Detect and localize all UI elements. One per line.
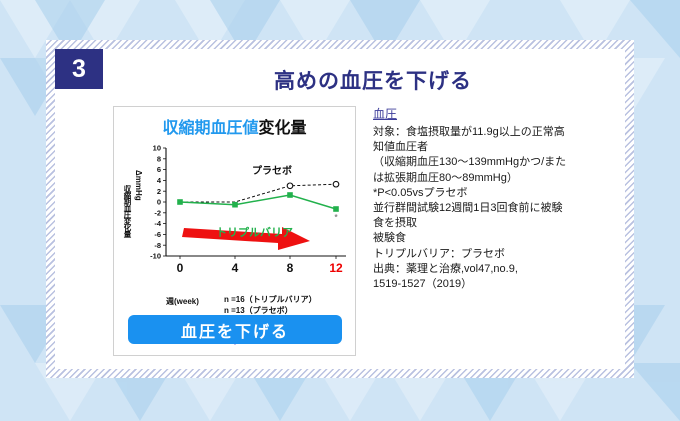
svg-text:-2: -2 [154, 208, 161, 217]
info-line: （収縮期血圧130〜139mmHgかつ/また [373, 155, 621, 170]
info-line: 食を摂取 [373, 216, 621, 231]
x-axis-tick-labels: 0 4 8 12 [177, 261, 343, 275]
svg-text:10: 10 [153, 144, 161, 153]
chart-panel: 収縮期血圧値変化量 収縮期血圧変化量 ΔmmHg [113, 106, 356, 356]
series-label-placebo: プラセボ [252, 162, 292, 177]
series-line-placebo [180, 184, 336, 202]
info-line: トリプルバリア：プラセボ [373, 247, 621, 262]
sample-size-triple: n =16（トリプルバリア） [224, 294, 317, 305]
svg-text:0: 0 [177, 261, 184, 275]
slide-number-text: 3 [72, 55, 86, 84]
chart-title-black: 変化量 [259, 120, 307, 137]
info-line: 対象：食塩摂取量が11.9g以上の正常高 [373, 125, 621, 140]
svg-text:4: 4 [157, 176, 162, 185]
y-axis-tick-labels: 10 8 6 4 2 0 -2 -4 -6 -8 -10 [150, 144, 162, 261]
info-line: 被験食 [373, 231, 621, 246]
sample-size-note: n =16（トリプルバリア） n =13（プラセボ） [224, 294, 317, 316]
significance-asterisk: * [334, 213, 338, 222]
slide-number-badge: 3 [55, 49, 103, 89]
series-label-triple: トリプルバリア [216, 224, 293, 240]
info-panel: 血圧 対象：食塩摂取量が11.9g以上の正常高 知値血圧者 （収縮期血圧130〜… [373, 105, 621, 292]
x-axis-caption: 週(week) [166, 296, 199, 307]
svg-text:-4: -4 [154, 219, 161, 228]
chart-title-blue: 収縮期血圧値 [162, 120, 258, 137]
svg-text:8: 8 [287, 261, 294, 275]
info-line: 知値血圧者 [373, 140, 621, 155]
chart-svg: 10 8 6 4 2 0 -2 -4 -6 -8 -10 [114, 140, 357, 290]
svg-text:0: 0 [157, 198, 161, 207]
svg-text:-10: -10 [150, 252, 161, 261]
svg-text:-8: -8 [154, 241, 161, 250]
page-title: 高めの血圧を下げる [103, 65, 643, 95]
info-panel-heading: 血圧 [373, 105, 621, 122]
info-line: 並行群間試験12週間1日3回食前に被験 [373, 201, 621, 216]
slide-inner-surface: 3 高めの血圧を下げる 収縮期血圧値変化量 収縮期血圧変化量 ΔmmHg [55, 49, 625, 369]
conclusion-banner: 血圧を下げる [128, 315, 342, 344]
svg-text:8: 8 [157, 154, 161, 163]
conclusion-banner-label: 血圧を下げる [181, 318, 289, 342]
info-line: 出典：薬理と治療,vol47,no.9, [373, 262, 621, 277]
svg-text:2: 2 [157, 187, 161, 196]
svg-text:4: 4 [232, 261, 239, 275]
slide-card: 3 高めの血圧を下げる 収縮期血圧値変化量 収縮期血圧変化量 ΔmmHg [46, 40, 634, 378]
svg-text:6: 6 [157, 165, 161, 174]
x-tick-highlight: 12 [329, 261, 343, 275]
svg-text:-6: -6 [154, 230, 161, 239]
info-line: *P<0.05vsプラセボ [373, 186, 621, 201]
info-line: 1519-1527（2019） [373, 277, 621, 292]
info-line: は拡張期血圧80〜89mmHg） [373, 171, 621, 186]
chart-plot-area: 収縮期血圧変化量 ΔmmHg [114, 140, 357, 290]
chart-title: 収縮期血圧値変化量 [114, 114, 355, 138]
